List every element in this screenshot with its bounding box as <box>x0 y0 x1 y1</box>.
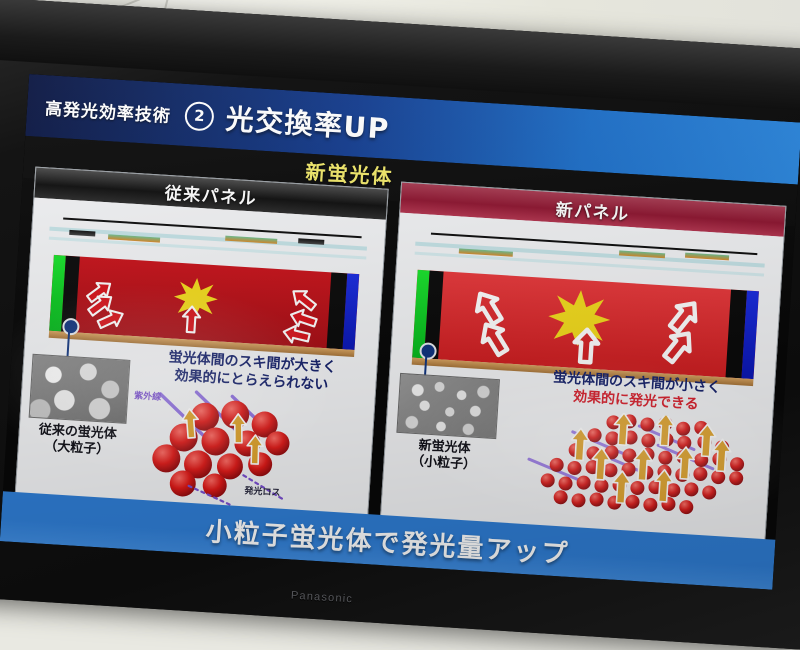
tv-screen: 高発光効率技術 2 光交換率UP 新蛍光体 従来パネル <box>0 74 800 590</box>
page-title: 光交換率UP <box>225 98 391 148</box>
electrode-chip <box>69 230 95 237</box>
particle-illustration-conventional <box>133 387 368 517</box>
presentation-slide: 高発光効率技術 2 光交換率UP 新蛍光体 従来パネル <box>0 74 800 590</box>
title-prefix-text: 高発光効率技術 <box>44 94 171 127</box>
emission-loss-label: 発光ロス <box>244 483 281 498</box>
cross-section-diagram-conventional <box>36 206 375 355</box>
sem-caption-new: 新蛍光体 （小粒子） <box>388 436 500 475</box>
title-step-number-badge: 2 <box>184 100 215 131</box>
sem-photo-conventional-phosphor <box>29 354 131 424</box>
sem-caption-conventional: 従来の蛍光体 （大粒子） <box>22 421 132 460</box>
television-display: Panasonic 高発光効率技術 2 光交換率UP 新蛍光体 従来パネル <box>0 0 800 650</box>
panel-conventional-body: 従来の蛍光体 （大粒子） 蛍光体間のスキ間が大きく 効果的にとらえられない <box>15 198 386 531</box>
panel-conventional: 従来パネル <box>14 167 389 533</box>
cross-section-diagram-new <box>401 221 773 384</box>
uv-label-conventional: 紫外線 <box>134 388 162 403</box>
particle-illustration-new <box>511 406 764 533</box>
panel-new-body: 新蛍光体 （小粒子） 蛍光体間のスキ間が小さく 効果的に発光できる <box>380 213 783 558</box>
panel-new: 新パネル <box>379 182 786 560</box>
sem-photo-new-phosphor <box>396 373 500 439</box>
